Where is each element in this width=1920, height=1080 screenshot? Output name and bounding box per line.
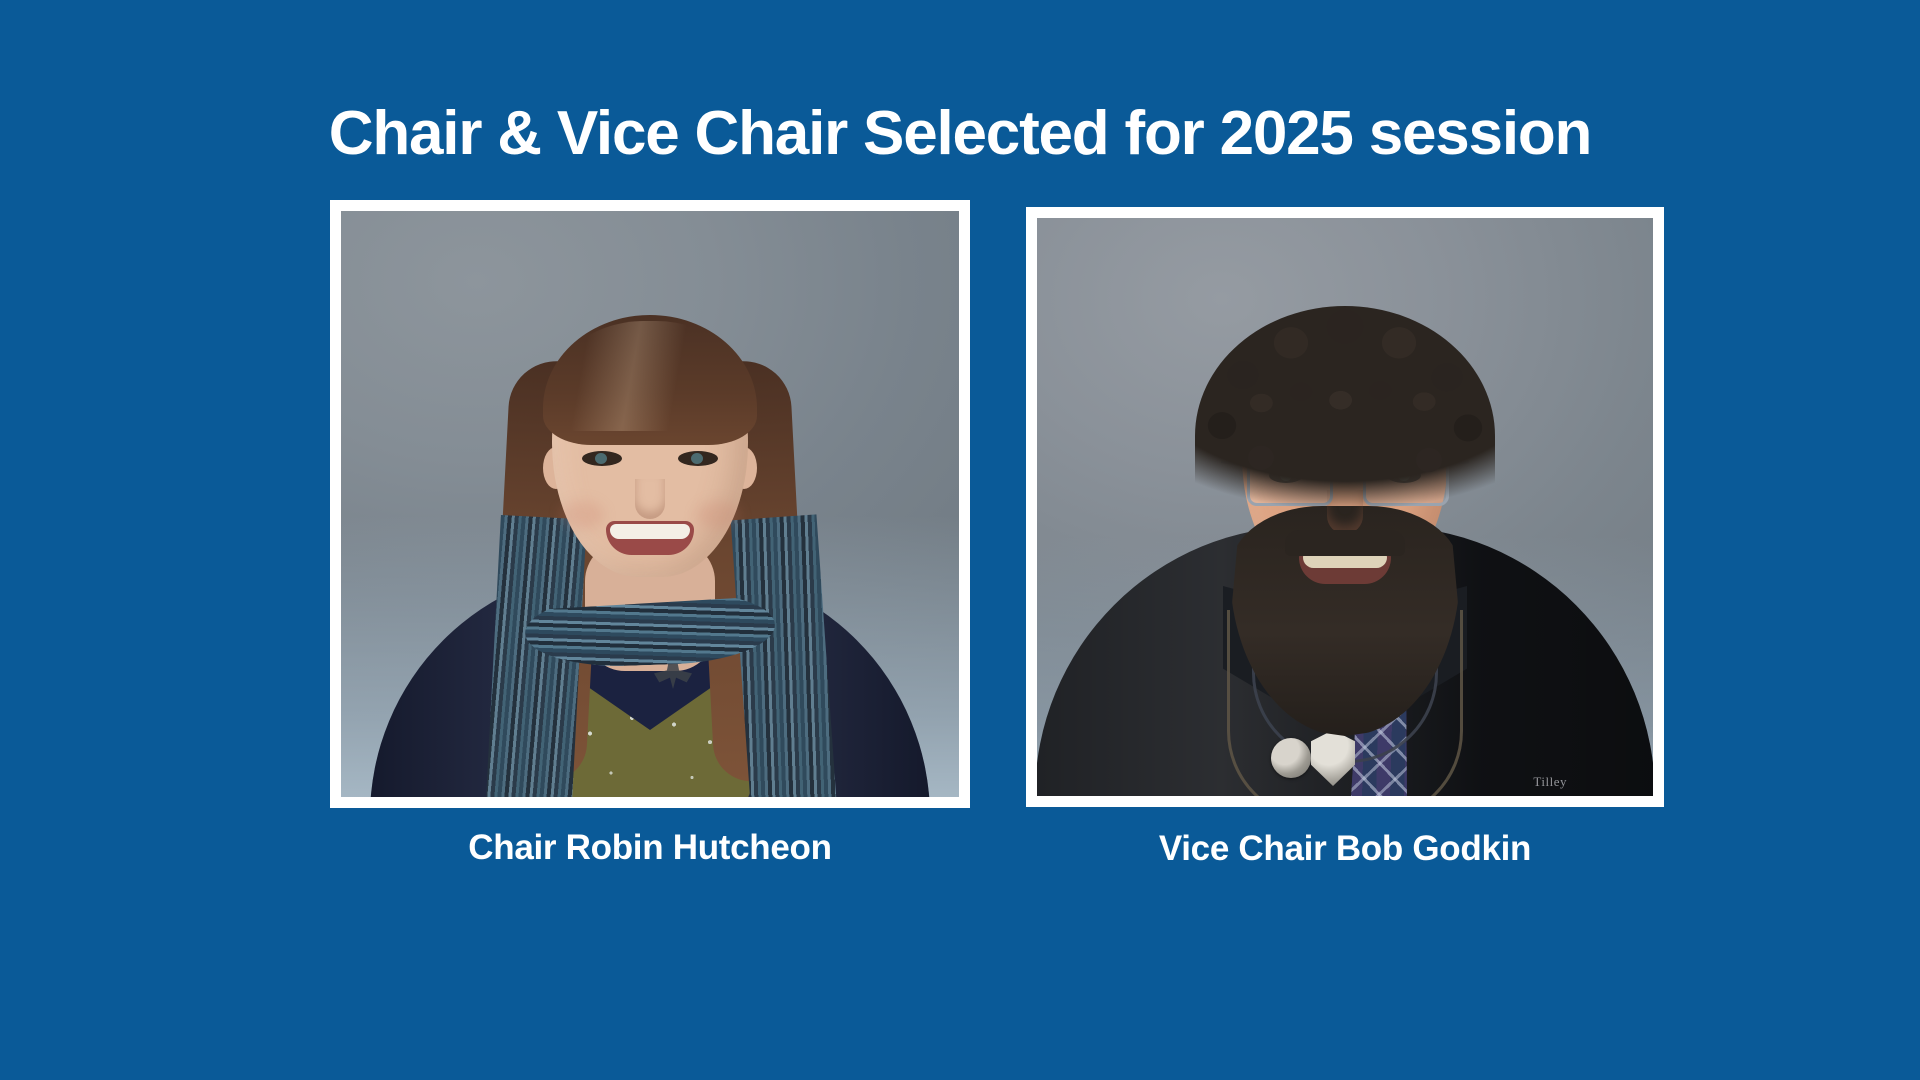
portrait-photo-chair <box>341 211 959 797</box>
announcement-slide: Chair & Vice Chair Selected for 2025 ses… <box>0 0 1920 1080</box>
photo-frame-vice-chair: Tilley <box>1026 207 1664 807</box>
shirt-logo: Tilley <box>1533 774 1567 790</box>
portrait-cards: Chair Robin Hutcheon <box>0 0 1920 1080</box>
person-card-vice-chair: Tilley <box>1026 207 1664 869</box>
moustache <box>1285 530 1405 556</box>
nose-shape <box>635 479 665 519</box>
person-caption-vice-chair: Vice Chair Bob Godkin <box>1026 829 1664 869</box>
person-caption-chair: Chair Robin Hutcheon <box>330 828 970 868</box>
mouth-smile <box>606 521 694 555</box>
cheek-left <box>560 501 604 529</box>
medallion-pendant <box>1271 738 1311 778</box>
hair-sheen <box>543 321 757 431</box>
scarf-right-drape <box>731 514 838 797</box>
person-card-chair: Chair Robin Hutcheon <box>330 200 970 868</box>
hair-fringe <box>1235 368 1455 438</box>
eye-left <box>582 451 622 466</box>
cheek-right <box>696 501 740 529</box>
portrait-figure-chair <box>341 211 959 797</box>
portrait-figure-vice-chair: Tilley <box>1037 218 1653 796</box>
portrait-photo-vice-chair: Tilley <box>1037 218 1653 796</box>
eye-right <box>678 451 718 466</box>
teeth <box>610 524 690 539</box>
photo-frame-chair <box>330 200 970 808</box>
